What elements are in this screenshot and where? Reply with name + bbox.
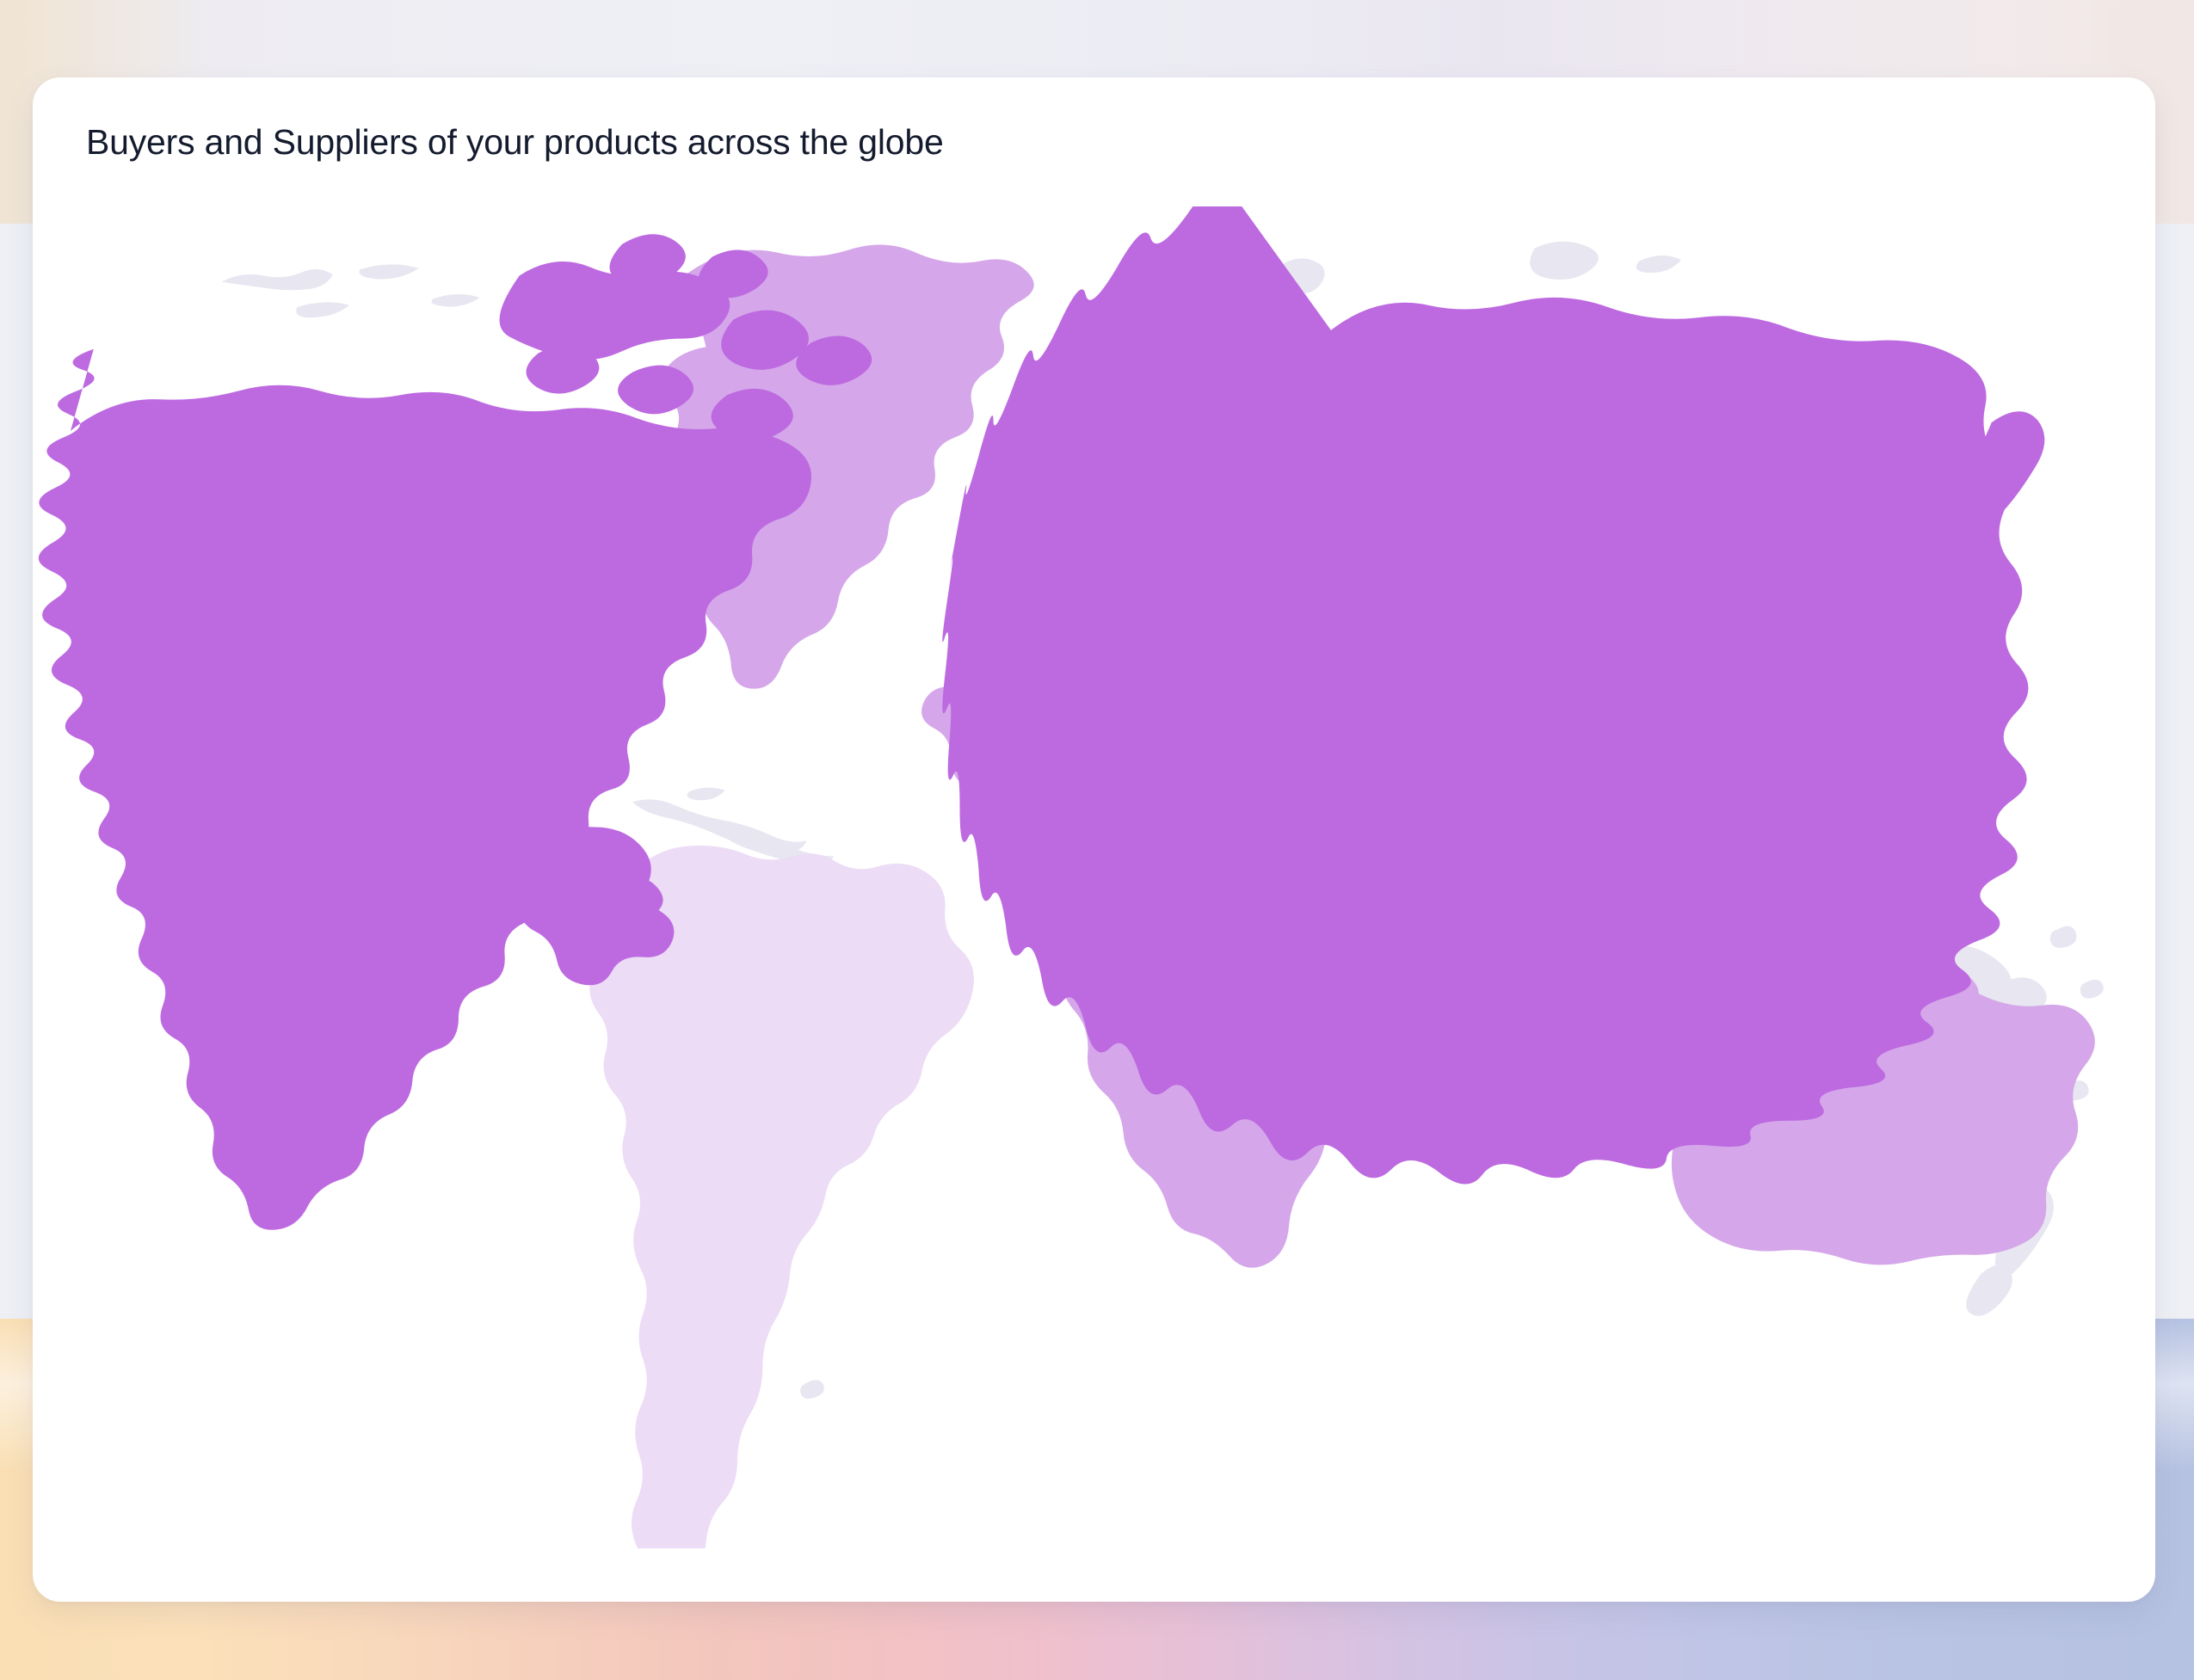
page-title: Buyers and Suppliers of your products ac… [86,122,944,163]
world-map [33,206,2155,1548]
map-region-arctic-islands [222,264,480,317]
map-region-south-atlantic-islands [800,1380,824,1399]
map-region-russian-arctic [1530,242,1681,280]
world-map-svg [33,206,2155,1548]
page-root: Buyers and Suppliers of your products ac… [0,0,2194,1680]
map-region-group-highest [39,206,2045,1230]
world-map-card: Buyers and Suppliers of your products ac… [33,77,2155,1602]
